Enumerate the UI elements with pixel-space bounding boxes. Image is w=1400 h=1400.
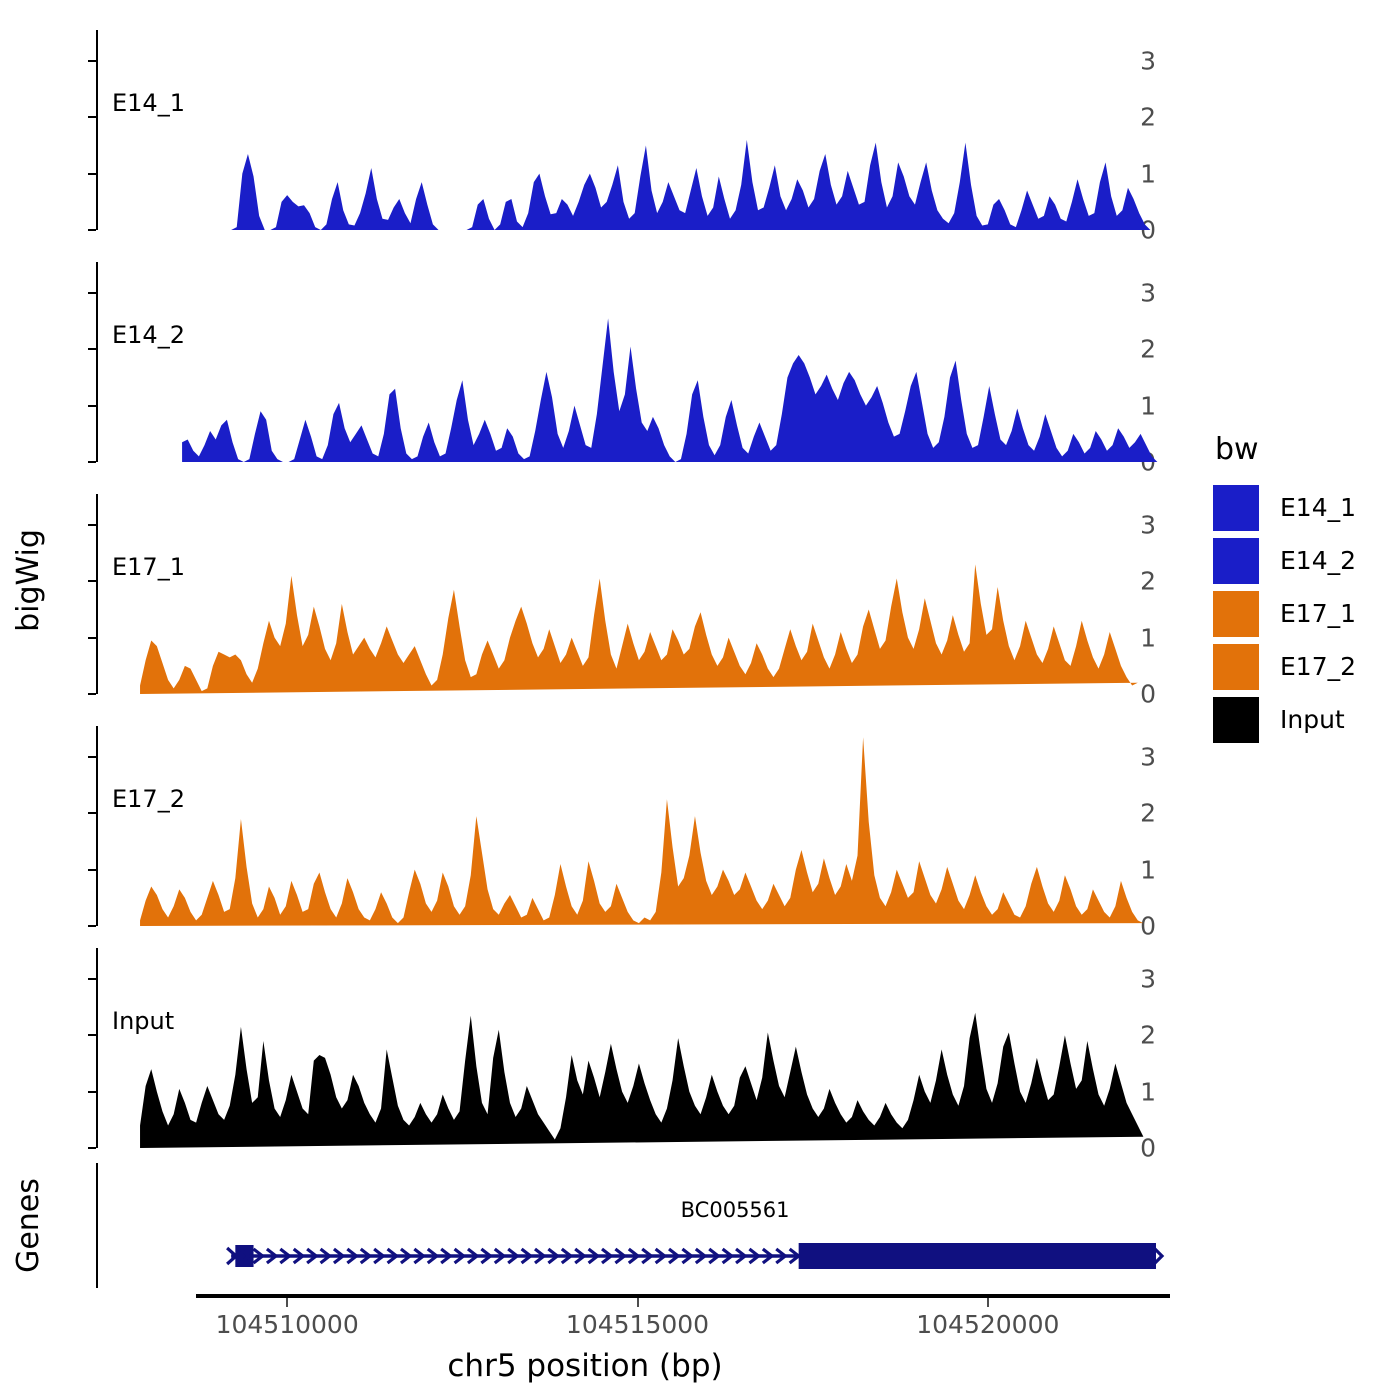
x-tick-label: 104510000 [216,1310,359,1339]
x-tick-mark [286,1298,288,1307]
legend-color-swatch [1213,538,1259,584]
y-tick-mark [88,60,96,62]
y-tick-mark [88,869,96,871]
genes-group-label: Genes [8,1155,48,1295]
x-tick-mark [987,1298,989,1307]
y-tick-mark [88,580,96,582]
y-tick-mark [88,229,96,231]
bigwig-genome-browser-figure: bigWig Genes 0123E14_10123E14_20123E17_1… [0,0,1400,1400]
x-tick-mark [637,1298,639,1307]
legend-title: bw [1215,432,1356,467]
legend-items: E14_1E14_2E17_1E17_2Input [1213,481,1356,746]
x-tick-label: 104515000 [566,1310,709,1339]
legend-item-e17_1[interactable]: E17_1 [1213,587,1356,640]
y-tick-mark [88,348,96,350]
legend-color-swatch [1213,591,1259,637]
gene-model[interactable] [98,1163,1170,1288]
coverage-area-e14_2 [98,262,1170,462]
track-panel-e14_2: 0123E14_2 [96,262,1170,462]
genes-panel: BC005561 [96,1163,1170,1288]
track-panel-e14_1: 0123E14_1 [96,30,1170,230]
y-axis-group-label: bigWig [8,470,48,690]
y-tick-mark [88,637,96,639]
legend-color-swatch [1213,697,1259,743]
legend-item-e14_2[interactable]: E14_2 [1213,534,1356,587]
track-panel-e17_1: 0123E17_1 [96,494,1170,694]
y-tick-mark [88,461,96,463]
coverage-area-input [98,948,1170,1148]
legend-item-input[interactable]: Input [1213,693,1356,746]
y-tick-mark [88,1034,96,1036]
legend-color-swatch [1213,644,1259,690]
y-tick-mark [88,1091,96,1093]
coverage-area-e17_2 [98,726,1170,926]
legend-item-label: E14_1 [1280,493,1356,522]
y-tick-mark [88,693,96,695]
legend-item-label: E14_2 [1280,546,1356,575]
coverage-area-e14_1 [98,30,1170,230]
y-tick-mark [88,756,96,758]
legend-item-label: E17_1 [1280,599,1356,628]
legend: bw E14_1E14_2E17_1E17_2Input [1213,432,1356,746]
y-tick-mark [88,116,96,118]
x-axis-line [196,1294,1170,1298]
legend-item-e17_2[interactable]: E17_2 [1213,640,1356,693]
y-tick-mark [88,292,96,294]
y-tick-mark [88,925,96,927]
y-tick-mark [88,978,96,980]
y-tick-mark [88,1147,96,1149]
legend-item-e14_1[interactable]: E14_1 [1213,481,1356,534]
track-panel-input: 0123Input [96,948,1170,1148]
y-tick-mark [88,173,96,175]
y-tick-mark [88,524,96,526]
coverage-area-e17_1 [98,494,1170,694]
y-tick-mark [88,405,96,407]
legend-color-swatch [1213,485,1259,531]
x-axis-label: chr5 position (bp) [0,1348,1170,1384]
y-tick-mark [88,812,96,814]
track-panel-e17_2: 0123E17_2 [96,726,1170,926]
legend-item-label: E17_2 [1280,652,1356,681]
legend-item-label: Input [1280,705,1345,734]
x-tick-label: 104520000 [916,1310,1059,1339]
